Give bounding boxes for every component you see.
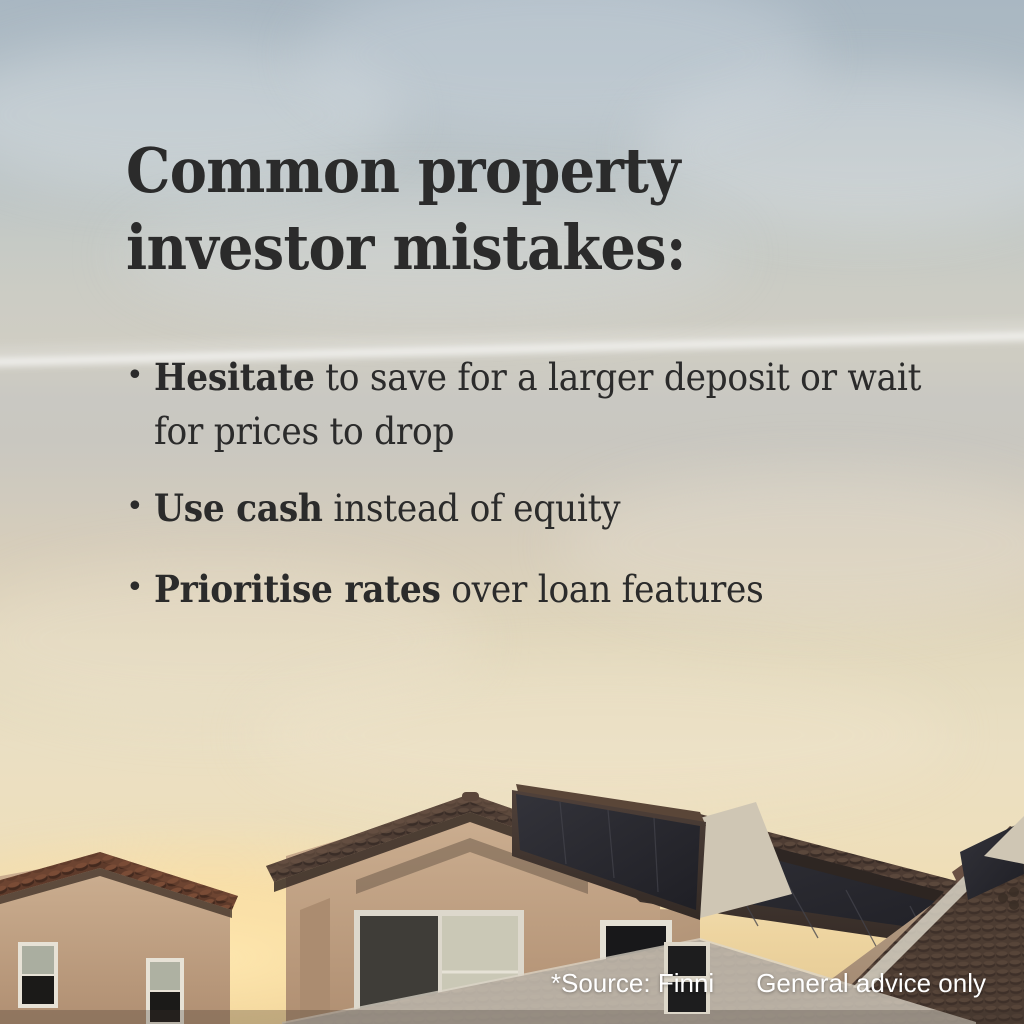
info-card-graphic: Common property investor mistakes: • Hes…	[0, 0, 1024, 1024]
bullet-marker-icon: •	[126, 349, 154, 403]
source-credit: *Source: Finni	[551, 968, 714, 999]
list-item: • Hesitate to save for a larger deposit …	[126, 350, 1006, 459]
headline: Common property investor mistakes:	[126, 132, 810, 286]
list-item-emphasis: Hesitate	[154, 355, 315, 399]
footer-disclaimer-row: *Source: Finni General advice only	[0, 968, 1024, 999]
advice-disclaimer: General advice only	[756, 968, 986, 999]
list-item-emphasis: Use cash	[154, 486, 323, 530]
list-item: • Use cash instead of equity	[126, 481, 1006, 536]
list-item-emphasis: Prioritise rates	[154, 567, 441, 611]
cloud-wisp	[300, 0, 820, 140]
list-item-rest: over loan features	[441, 568, 764, 611]
mistakes-list: • Hesitate to save for a larger deposit …	[126, 350, 1006, 617]
list-item: • Prioritise rates over loan features	[126, 562, 1006, 617]
list-item-text: Hesitate to save for a larger deposit or…	[154, 350, 946, 459]
list-item-text: Prioritise rates over loan features	[154, 562, 946, 617]
list-item-rest: instead of equity	[323, 487, 621, 530]
bullet-marker-icon: •	[126, 480, 154, 534]
list-item-text: Use cash instead of equity	[154, 481, 946, 536]
bullet-marker-icon: •	[126, 561, 154, 615]
